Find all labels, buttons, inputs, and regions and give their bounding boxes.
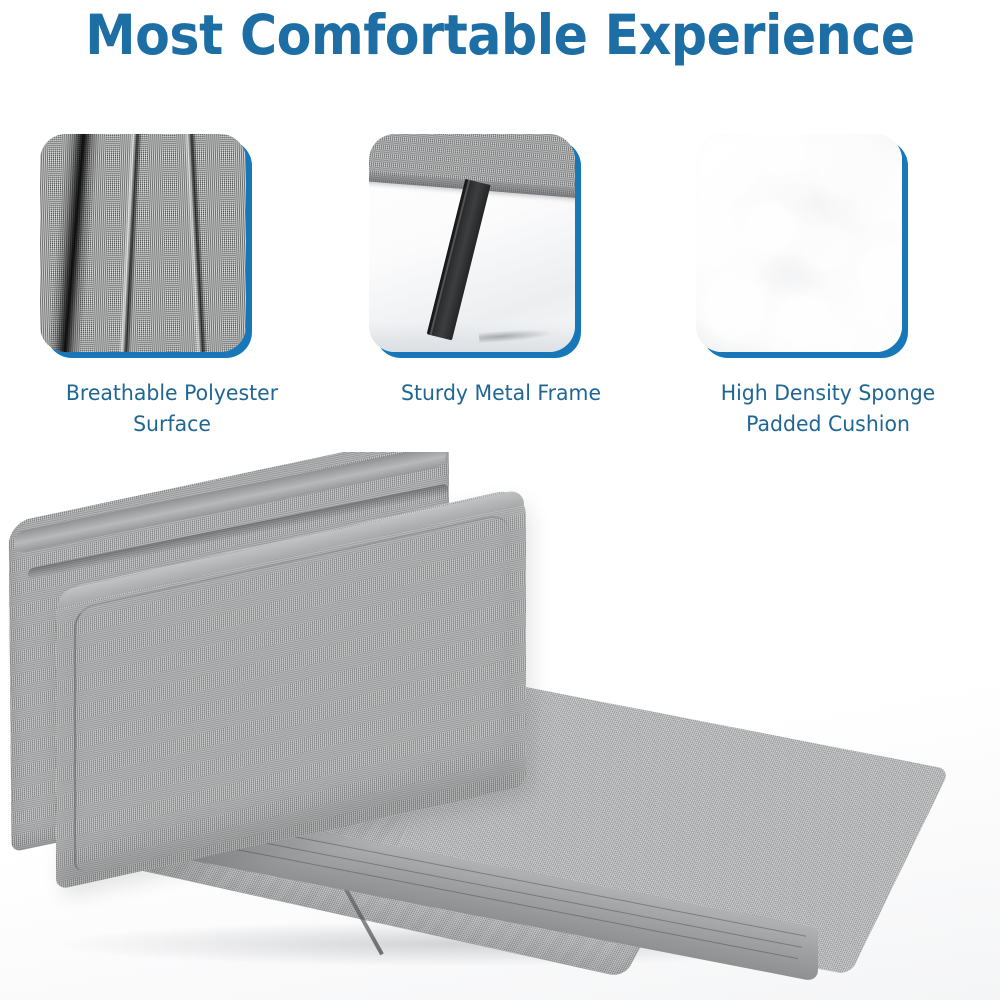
feature-caption-line-2: Surface [26, 409, 319, 440]
metal-frame-image [369, 134, 575, 352]
feature-image-frame [696, 134, 908, 358]
feature-caption: High Density Sponge Padded Cushion [682, 378, 975, 440]
feature-caption: Breathable Polyester Surface [26, 378, 319, 440]
feature-card-breathable-polyester-surface: Breathable Polyester Surface [18, 134, 326, 444]
feature-cards-row: Breathable Polyester Surface Sturdy Meta… [0, 134, 1000, 444]
feature-caption-line-1: High Density Sponge [682, 378, 975, 409]
feature-card-high-density-sponge-padded-cushion: High Density Sponge Padded Cushion [674, 134, 982, 444]
feature-card-sturdy-metal-frame: Sturdy Metal Frame [347, 134, 655, 444]
feature-image-frame [369, 134, 581, 358]
sponge-fill-image [696, 134, 902, 352]
feature-image-frame [40, 134, 252, 358]
fabric-texture-image [40, 134, 246, 352]
woven-fabric-texture [40, 134, 246, 352]
product-marketing-image: Most Comfortable Experience Breathable P… [0, 0, 1000, 1000]
feature-caption-line-1: Breathable Polyester [26, 378, 319, 409]
feature-caption: Sturdy Metal Frame [355, 378, 648, 409]
product-hero-photo [0, 452, 1000, 1000]
page-title: Most Comfortable Experience [40, 2, 960, 70]
feature-caption-line-1: Sturdy Metal Frame [355, 378, 648, 409]
sponge-highlight-veil [696, 134, 902, 352]
feature-caption-line-2: Padded Cushion [682, 409, 975, 440]
